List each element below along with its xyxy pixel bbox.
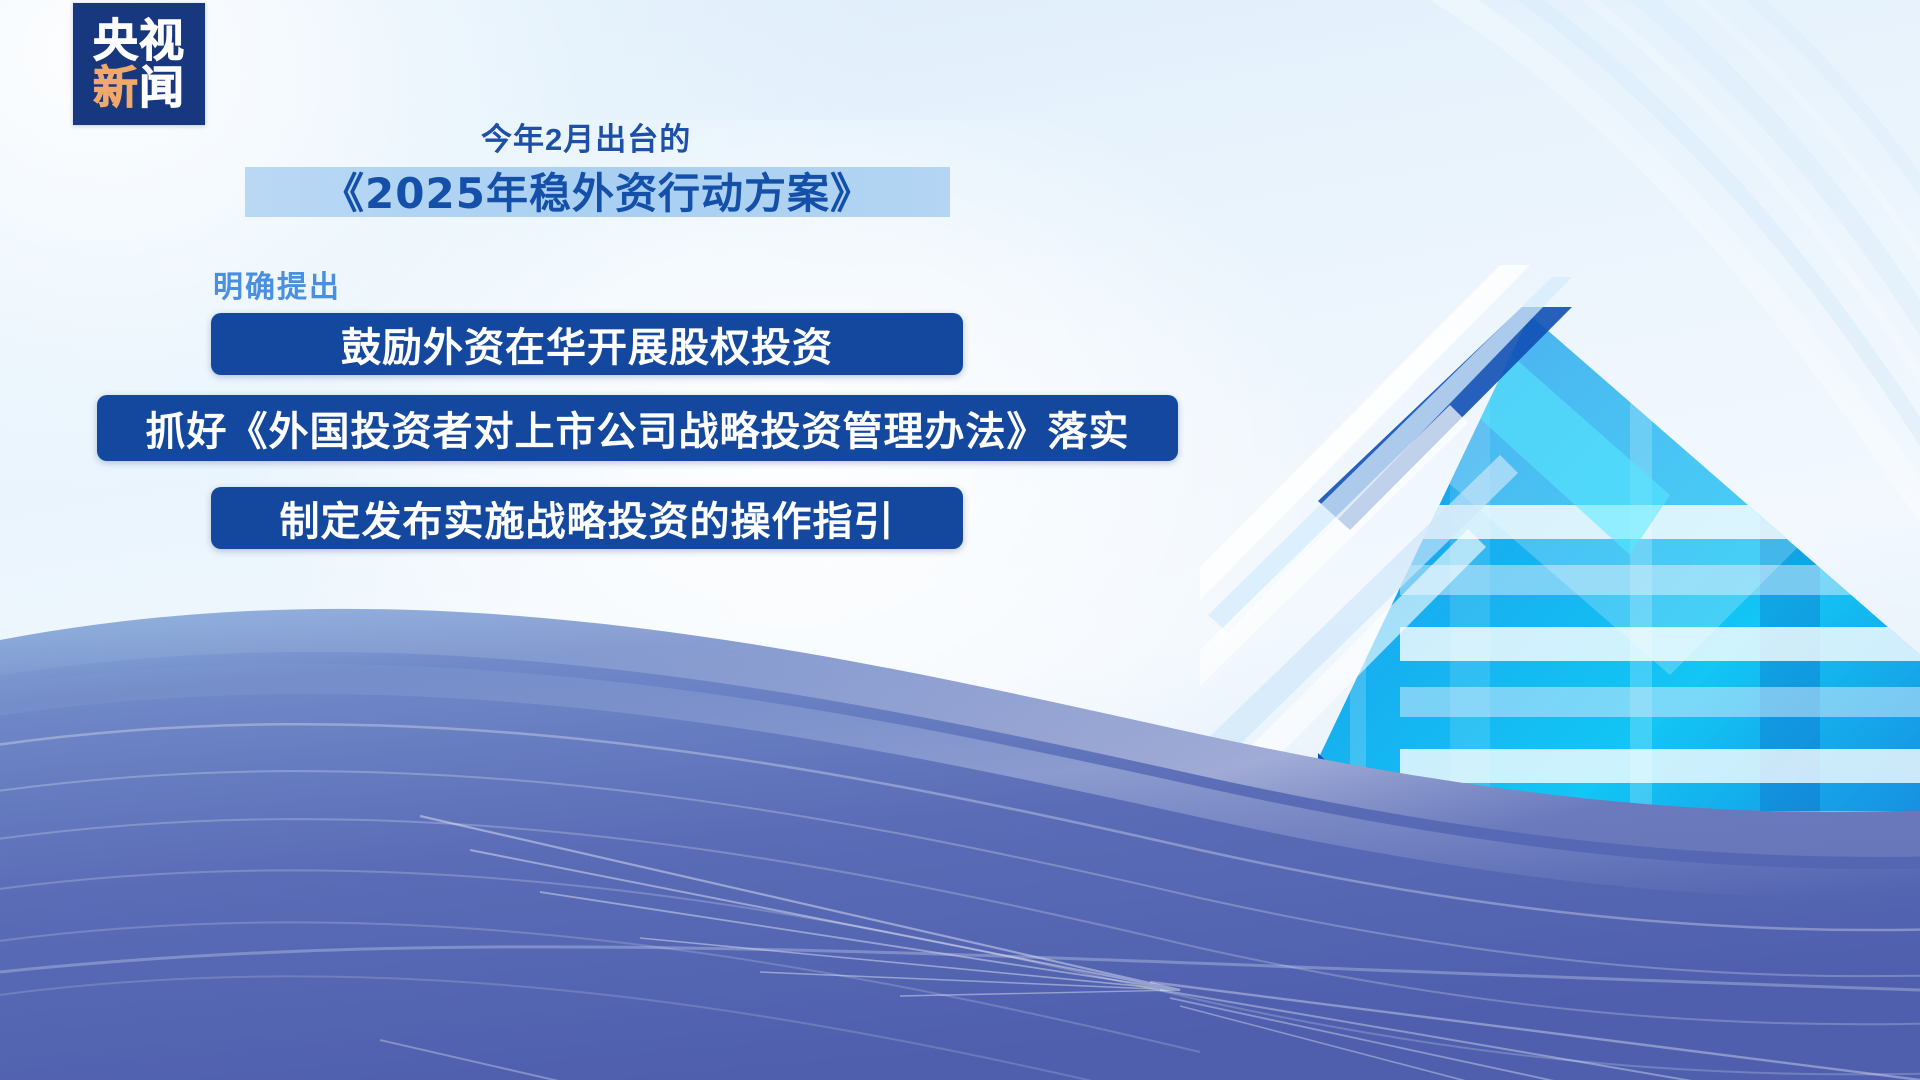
logo-line-1: 央视 bbox=[93, 18, 185, 63]
policy-point-bar-2: 抓好《外国投资者对上市公司战略投资管理办法》落实 bbox=[97, 395, 1178, 461]
broadcast-graphic-slide: 央视 新 闻 今年2月出台的 《2025年稳外资行动方案》 明确提出 鼓励外资在… bbox=[0, 0, 1920, 1080]
policy-point-bar-1: 鼓励外资在华开展股权投资 bbox=[211, 313, 963, 375]
headline-kicker: 今年2月出台的 bbox=[481, 114, 691, 159]
logo-text-wen: 闻 bbox=[139, 65, 185, 110]
diamond-building-graphic bbox=[1200, 255, 1920, 955]
diamond-left-wedge bbox=[1318, 307, 1572, 530]
diamond-arrow-accent bbox=[1318, 753, 1386, 887]
cctv-news-logo: 央视 新 闻 bbox=[73, 3, 205, 125]
background-arcs-decoration bbox=[1080, 0, 1920, 560]
policy-point-bar-3: 制定发布实施战略投资的操作指引 bbox=[211, 487, 963, 549]
logo-text-yangshi: 央视 bbox=[93, 18, 185, 63]
headline-sub-kicker: 明确提出 bbox=[213, 262, 341, 306]
logo-line-2: 新 闻 bbox=[93, 65, 185, 110]
document-title: 《2025年稳外资行动方案》 bbox=[245, 159, 950, 221]
logo-text-xin: 新 bbox=[93, 65, 139, 110]
background-wave-band bbox=[0, 520, 1920, 1080]
